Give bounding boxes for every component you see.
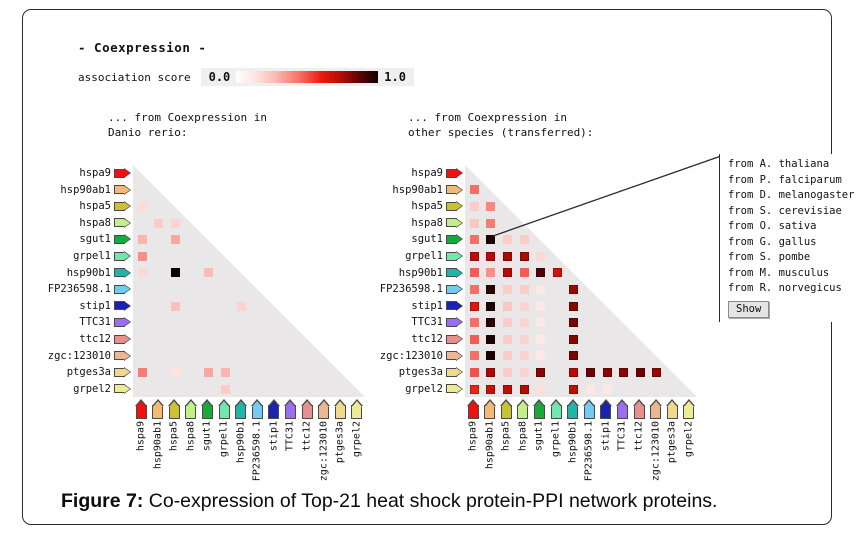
protein-node-icon xyxy=(235,399,246,419)
show-button[interactable]: Show xyxy=(728,301,769,318)
protein-node-icon xyxy=(114,252,131,261)
column-label-hspa8[interactable]: hspa8 xyxy=(183,399,199,419)
column-label-fp236598-1[interactable]: FP236598.1 xyxy=(581,399,597,419)
heatmap-cell[interactable] xyxy=(603,385,612,394)
column-label-text: ptges3a xyxy=(667,421,678,463)
heatmap-cell[interactable] xyxy=(553,268,562,277)
heatmap-cell[interactable] xyxy=(470,335,479,344)
protein-node-icon xyxy=(114,368,131,377)
row-label-text: FP236598.1 xyxy=(48,281,111,297)
heatmap-cell[interactable] xyxy=(536,285,545,294)
row-label-ttc31[interactable]: TTC31 xyxy=(381,314,463,330)
heatmap-cell[interactable] xyxy=(470,302,479,311)
heatmap-cell[interactable] xyxy=(520,235,529,244)
column-label-ttc12[interactable]: ttc12 xyxy=(631,399,647,419)
legend-bar-wrapper: 0.0 1.0 xyxy=(201,68,414,86)
panel-caption-danio-rerio: ... from Coexpression inDanio rerio: xyxy=(108,110,267,140)
row-label-text: grpel2 xyxy=(405,381,443,397)
heatmap-cell[interactable] xyxy=(652,368,661,377)
heatmap-cell[interactable] xyxy=(486,351,495,360)
heatmap-cell[interactable] xyxy=(536,368,545,377)
row-label-sgut1[interactable]: sgut1 xyxy=(49,231,131,247)
heatmap-cell[interactable] xyxy=(171,235,180,244)
heatmap-danio-rerio[interactable]: hspa9hsp90ab1hspa5hspa8sgut1grpel1hsp90b… xyxy=(49,165,373,483)
row-label-zgc-123010[interactable]: zgc:123010 xyxy=(49,348,131,364)
heatmap-cell[interactable] xyxy=(486,219,495,228)
protein-node-icon xyxy=(285,399,296,419)
heatmap-cell[interactable] xyxy=(171,368,180,377)
protein-node-icon xyxy=(667,399,678,419)
protein-node-icon xyxy=(517,399,528,419)
column-label-text: hspa8 xyxy=(185,421,196,451)
protein-node-icon xyxy=(351,399,362,419)
protein-node-icon xyxy=(501,399,512,419)
heatmap-cell[interactable] xyxy=(520,385,529,394)
column-label-text: stip1 xyxy=(268,421,279,451)
figure-caption-prefix: Figure 7: xyxy=(61,490,143,512)
protein-node-icon xyxy=(446,351,463,360)
row-label-hsp90ab1[interactable]: hsp90ab1 xyxy=(381,182,463,198)
column-label-text: hspa5 xyxy=(169,421,180,451)
heatmap-cell[interactable] xyxy=(470,252,479,261)
row-label-zgc-123010[interactable]: zgc:123010 xyxy=(381,348,463,364)
heatmap-cell[interactable] xyxy=(138,252,147,261)
column-label-ttc31[interactable]: TTC31 xyxy=(282,399,298,419)
row-label-text: TTC31 xyxy=(79,314,111,330)
heatmap-cell[interactable] xyxy=(520,302,529,311)
protein-node-icon xyxy=(446,368,463,377)
heatmap-cell[interactable] xyxy=(221,368,230,377)
protein-node-icon xyxy=(136,399,147,419)
heatmap-cell[interactable] xyxy=(569,385,578,394)
figure-caption-text: Co-expression of Top-21 heat shock prote… xyxy=(143,490,717,512)
row-label-text: zgc:123010 xyxy=(380,348,443,364)
column-label-row: hspa9hsp90ab1hspa5hspa8sgut1grpel1hsp90b… xyxy=(465,399,697,483)
protein-node-icon xyxy=(114,202,131,211)
heatmap-cell[interactable] xyxy=(569,318,578,327)
protein-node-icon xyxy=(114,335,131,344)
heatmap-cell[interactable] xyxy=(138,235,147,244)
panel-caption-line1: ... from Coexpression in xyxy=(108,110,267,125)
row-label-ttc12[interactable]: ttc12 xyxy=(381,331,463,347)
row-label-text: hsp90b1 xyxy=(399,265,443,281)
heatmap-cell[interactable] xyxy=(569,335,578,344)
column-label-text: hspa5 xyxy=(501,421,512,451)
heatmap-cell[interactable] xyxy=(503,302,512,311)
row-label-grpel1[interactable]: grpel1 xyxy=(49,248,131,264)
heatmap-cell[interactable] xyxy=(520,335,529,344)
heatmap-cell[interactable] xyxy=(470,202,479,211)
column-label-text: grpel1 xyxy=(551,421,562,457)
heatmap-cell[interactable] xyxy=(470,235,479,244)
heatmap-cell[interactable] xyxy=(536,335,545,344)
column-label-text: sgut1 xyxy=(202,421,213,451)
heatmap-cell[interactable] xyxy=(586,385,595,394)
row-label-text: TTC31 xyxy=(411,314,443,330)
heatmap-cell[interactable] xyxy=(520,351,529,360)
column-label-fp236598-1[interactable]: FP236598.1 xyxy=(249,399,265,419)
protein-node-icon xyxy=(114,185,131,194)
heatmap-cell[interactable] xyxy=(503,318,512,327)
column-label-sgut1[interactable]: sgut1 xyxy=(199,399,215,419)
species-item[interactable]: from S. cerevisiae xyxy=(728,204,854,220)
column-label-text: ttc12 xyxy=(634,421,645,451)
column-label-hspa9[interactable]: hspa9 xyxy=(465,399,481,419)
column-label-hsp90ab1[interactable]: hsp90ab1 xyxy=(482,399,498,419)
row-label-ttc12[interactable]: ttc12 xyxy=(49,331,131,347)
row-label-hsp90ab1[interactable]: hsp90ab1 xyxy=(49,182,131,198)
row-label-text: sgut1 xyxy=(411,231,443,247)
heatmap-cell[interactable] xyxy=(503,335,512,344)
protein-node-icon xyxy=(534,399,545,419)
row-label-sgut1[interactable]: sgut1 xyxy=(381,231,463,247)
column-label-text: ptges3a xyxy=(335,421,346,463)
heatmap-cell[interactable] xyxy=(237,302,246,311)
heatmap-cell[interactable] xyxy=(154,219,163,228)
protein-node-icon xyxy=(617,399,628,419)
column-label-zgc-123010[interactable]: zgc:123010 xyxy=(648,399,664,419)
column-label-ttc31[interactable]: TTC31 xyxy=(614,399,630,419)
row-label-grpel2[interactable]: grpel2 xyxy=(49,381,131,397)
row-label-text: hsp90b1 xyxy=(67,265,111,281)
row-label-text: grpel1 xyxy=(73,248,111,264)
heatmap-cell[interactable] xyxy=(470,368,479,377)
heatmap-cell[interactable] xyxy=(221,385,230,394)
heatmap-cell[interactable] xyxy=(503,285,512,294)
row-label-text: ptges3a xyxy=(399,364,443,380)
protein-node-icon xyxy=(114,301,131,310)
heatmap-cell[interactable] xyxy=(636,368,645,377)
row-label-text: grpel2 xyxy=(73,381,111,397)
coexpression-title: - Coexpression - xyxy=(78,40,206,55)
column-label-grpel2[interactable]: grpel2 xyxy=(681,399,697,419)
species-item[interactable]: from P. falciparum xyxy=(728,173,854,189)
heatmap-cell[interactable] xyxy=(520,285,529,294)
protein-node-icon xyxy=(169,399,180,419)
column-label-text: hspa8 xyxy=(517,421,528,451)
protein-node-icon xyxy=(600,399,611,419)
column-label-stip1[interactable]: stip1 xyxy=(266,399,282,419)
heatmap-cell[interactable] xyxy=(486,285,495,294)
row-label-hsp90b1[interactable]: hsp90b1 xyxy=(49,265,131,281)
row-label-text: stip1 xyxy=(79,298,111,314)
protein-node-icon xyxy=(468,399,479,419)
transferred-species-popup[interactable]: from A. thalianafrom P. falciparumfrom D… xyxy=(719,154,854,322)
row-label-text: FP236598.1 xyxy=(380,281,443,297)
protein-node-icon xyxy=(446,252,463,261)
column-label-grpel2[interactable]: grpel2 xyxy=(349,399,365,419)
protein-node-icon xyxy=(152,399,163,419)
row-label-hspa8[interactable]: hspa8 xyxy=(381,215,463,231)
heatmap-cell[interactable] xyxy=(536,351,545,360)
heatmap-cell[interactable] xyxy=(569,302,578,311)
protein-node-icon xyxy=(114,285,131,294)
column-label-text: hspa9 xyxy=(136,421,147,451)
species-item[interactable]: from M. musculus xyxy=(728,266,854,282)
column-label-hsp90b1[interactable]: hsp90b1 xyxy=(565,399,581,419)
row-label-text: hspa5 xyxy=(411,198,443,214)
row-label-ptges3a[interactable]: ptges3a xyxy=(381,364,463,380)
column-label-text: hsp90ab1 xyxy=(484,421,495,469)
row-label-hspa5[interactable]: hspa5 xyxy=(49,198,131,214)
column-label-hspa9[interactable]: hspa9 xyxy=(133,399,149,419)
row-label-column: hspa9hsp90ab1hspa5hspa8sgut1grpel1hsp90b… xyxy=(49,165,131,397)
column-label-zgc-123010[interactable]: zgc:123010 xyxy=(316,399,332,419)
heatmap-other-species[interactable]: hspa9hsp90ab1hspa5hspa8sgut1grpel1hsp90b… xyxy=(381,165,705,483)
heatmap-cell[interactable] xyxy=(486,368,495,377)
heatmap-cell[interactable] xyxy=(486,268,495,277)
species-item[interactable]: from D. melanogaster xyxy=(728,188,854,204)
heatmap-cell[interactable] xyxy=(470,385,479,394)
protein-node-icon xyxy=(252,399,263,419)
row-label-grpel1[interactable]: grpel1 xyxy=(381,248,463,264)
column-label-text: stip1 xyxy=(600,421,611,451)
protein-node-icon xyxy=(446,218,463,227)
heatmap-cell[interactable] xyxy=(486,335,495,344)
protein-node-icon xyxy=(302,399,313,419)
heatmap-cell[interactable] xyxy=(486,318,495,327)
column-label-text: zgc:123010 xyxy=(650,421,661,481)
protein-node-icon xyxy=(318,399,329,419)
heatmap-cell[interactable] xyxy=(536,268,545,277)
column-label-ptges3a[interactable]: ptges3a xyxy=(664,399,680,419)
heatmap-cell[interactable] xyxy=(503,235,512,244)
column-label-text: FP236598.1 xyxy=(252,421,263,481)
heatmap-grid[interactable] xyxy=(133,165,365,397)
heatmap-cell[interactable] xyxy=(503,351,512,360)
figure-caption: Figure 7: Co-expression of Top-21 heat s… xyxy=(61,490,841,513)
legend-max-value: 1.0 xyxy=(384,70,406,84)
row-label-stip1[interactable]: stip1 xyxy=(381,298,463,314)
protein-node-icon xyxy=(185,399,196,419)
protein-node-icon xyxy=(446,185,463,194)
column-label-text: hspa9 xyxy=(468,421,479,451)
heatmap-cell[interactable] xyxy=(603,368,612,377)
heatmap-cell[interactable] xyxy=(536,302,545,311)
row-label-text: ptges3a xyxy=(67,364,111,380)
column-label-text: zgc:123010 xyxy=(318,421,329,481)
column-label-text: FP236598.1 xyxy=(584,421,595,481)
column-label-text: hsp90ab1 xyxy=(152,421,163,469)
species-item[interactable]: from A. thaliana xyxy=(728,157,854,173)
row-label-grpel2[interactable]: grpel2 xyxy=(381,381,463,397)
protein-node-icon xyxy=(446,169,463,178)
legend-gradient-bar xyxy=(236,71,378,83)
legend-label: association score xyxy=(78,71,191,84)
heatmap-cell[interactable] xyxy=(470,351,479,360)
row-label-text: sgut1 xyxy=(79,231,111,247)
heatmap-cell[interactable] xyxy=(586,368,595,377)
heatmap-cell[interactable] xyxy=(536,318,545,327)
protein-node-icon xyxy=(683,399,694,419)
protein-node-icon xyxy=(446,285,463,294)
row-label-text: zgc:123010 xyxy=(48,348,111,364)
column-label-text: hsp90b1 xyxy=(567,421,578,463)
species-item[interactable]: from R. norvegicus xyxy=(728,281,854,297)
protein-node-icon xyxy=(567,399,578,419)
row-label-ptges3a[interactable]: ptges3a xyxy=(49,364,131,380)
protein-node-icon xyxy=(114,169,131,178)
heatmap-grid[interactable] xyxy=(465,165,697,397)
column-label-grpel1[interactable]: grpel1 xyxy=(216,399,232,419)
column-label-ptges3a[interactable]: ptges3a xyxy=(332,399,348,419)
row-label-hspa8[interactable]: hspa8 xyxy=(49,215,131,231)
protein-node-icon xyxy=(584,399,595,419)
protein-node-icon xyxy=(446,268,463,277)
row-label-text: hspa8 xyxy=(79,215,111,231)
panel-caption-line2: other species (transferred): xyxy=(408,125,593,140)
heatmap-cell[interactable] xyxy=(171,302,180,311)
protein-node-icon xyxy=(484,399,495,419)
heatmap-cell[interactable] xyxy=(536,252,545,261)
protein-node-icon xyxy=(551,399,562,419)
heatmap-cell[interactable] xyxy=(171,219,180,228)
row-label-text: hspa9 xyxy=(411,165,443,181)
row-label-hspa5[interactable]: hspa5 xyxy=(381,198,463,214)
heatmap-cell[interactable] xyxy=(520,252,529,261)
heatmap-cell[interactable] xyxy=(569,285,578,294)
column-label-hspa5[interactable]: hspa5 xyxy=(166,399,182,419)
protein-node-icon xyxy=(114,268,131,277)
species-item[interactable]: from S. pombe xyxy=(728,250,854,266)
column-label-text: grpel2 xyxy=(351,421,362,457)
row-label-text: ttc12 xyxy=(411,331,443,347)
protein-node-icon xyxy=(268,399,279,419)
row-label-hsp90b1[interactable]: hsp90b1 xyxy=(381,265,463,281)
protein-node-icon xyxy=(446,318,463,327)
row-label-hspa9[interactable]: hspa9 xyxy=(381,165,463,181)
row-label-text: hspa8 xyxy=(411,215,443,231)
triangle-background xyxy=(133,165,365,397)
protein-node-icon xyxy=(446,301,463,310)
legend-min-value: 0.0 xyxy=(209,70,231,84)
heatmap-cell[interactable] xyxy=(204,368,213,377)
heatmap-cell[interactable] xyxy=(486,252,495,261)
heatmap-cell[interactable] xyxy=(486,235,495,244)
protein-node-icon xyxy=(114,235,131,244)
heatmap-cell[interactable] xyxy=(171,268,180,277)
row-label-stip1[interactable]: stip1 xyxy=(49,298,131,314)
protein-node-icon xyxy=(114,218,131,227)
row-label-text: ttc12 xyxy=(79,331,111,347)
row-label-fp236598-1[interactable]: FP236598.1 xyxy=(49,281,131,297)
heatmap-cell[interactable] xyxy=(503,368,512,377)
protein-node-icon xyxy=(114,318,131,327)
protein-node-icon xyxy=(219,399,230,419)
heatmap-cell[interactable] xyxy=(486,302,495,311)
heatmap-cell[interactable] xyxy=(486,385,495,394)
heatmap-cell[interactable] xyxy=(536,385,545,394)
heatmap-cell[interactable] xyxy=(569,351,578,360)
species-item[interactable]: from G. gallus xyxy=(728,235,854,251)
row-label-text: hsp90ab1 xyxy=(392,182,443,198)
heatmap-cell[interactable] xyxy=(470,219,479,228)
protein-node-icon xyxy=(335,399,346,419)
heatmap-cell[interactable] xyxy=(503,252,512,261)
column-label-sgut1[interactable]: sgut1 xyxy=(531,399,547,419)
heatmap-cell[interactable] xyxy=(470,318,479,327)
protein-node-icon xyxy=(446,202,463,211)
heatmap-cell[interactable] xyxy=(470,185,479,194)
association-score-legend: association score 0.0 1.0 xyxy=(78,68,414,86)
row-label-fp236598-1[interactable]: FP236598.1 xyxy=(381,281,463,297)
protein-node-icon xyxy=(114,384,131,393)
column-label-text: grpel2 xyxy=(683,421,694,457)
row-label-column: hspa9hsp90ab1hspa5hspa8sgut1grpel1hsp90b… xyxy=(381,165,463,397)
panel-caption-line1: ... from Coexpression in xyxy=(408,110,593,125)
column-label-hspa5[interactable]: hspa5 xyxy=(498,399,514,419)
heatmap-cell[interactable] xyxy=(470,285,479,294)
heatmap-cell[interactable] xyxy=(520,368,529,377)
heatmap-cell[interactable] xyxy=(138,202,147,211)
row-label-hspa9[interactable]: hspa9 xyxy=(49,165,131,181)
protein-node-icon xyxy=(634,399,645,419)
heatmap-cell[interactable] xyxy=(486,202,495,211)
column-label-text: hsp90b1 xyxy=(235,421,246,463)
species-item[interactable]: from O. sativa xyxy=(728,219,854,235)
heatmap-cell[interactable] xyxy=(619,368,628,377)
column-label-text: grpel1 xyxy=(219,421,230,457)
row-label-text: hspa9 xyxy=(79,165,111,181)
protein-node-icon xyxy=(446,384,463,393)
heatmap-cell[interactable] xyxy=(503,385,512,394)
column-label-text: sgut1 xyxy=(534,421,545,451)
protein-node-icon xyxy=(650,399,661,419)
heatmap-cell[interactable] xyxy=(204,268,213,277)
heatmap-cell[interactable] xyxy=(503,268,512,277)
column-label-hspa8[interactable]: hspa8 xyxy=(515,399,531,419)
protein-node-icon xyxy=(446,235,463,244)
column-label-grpel1[interactable]: grpel1 xyxy=(548,399,564,419)
protein-node-icon xyxy=(446,335,463,344)
column-label-row: hspa9hsp90ab1hspa5hspa8sgut1grpel1hsp90b… xyxy=(133,399,365,483)
column-label-stip1[interactable]: stip1 xyxy=(598,399,614,419)
heatmap-cell[interactable] xyxy=(569,368,578,377)
heatmap-cell[interactable] xyxy=(520,268,529,277)
column-label-text: TTC31 xyxy=(285,421,296,451)
column-label-text: TTC31 xyxy=(617,421,628,451)
column-label-hsp90ab1[interactable]: hsp90ab1 xyxy=(150,399,166,419)
panel-caption-other-species: ... from Coexpression inother species (t… xyxy=(408,110,593,140)
heatmap-cell[interactable] xyxy=(138,268,147,277)
heatmap-cell[interactable] xyxy=(138,368,147,377)
row-label-ttc31[interactable]: TTC31 xyxy=(49,314,131,330)
heatmap-cell[interactable] xyxy=(470,268,479,277)
row-label-text: stip1 xyxy=(411,298,443,314)
row-label-text: hspa5 xyxy=(79,198,111,214)
row-label-text: grpel1 xyxy=(405,248,443,264)
protein-node-icon xyxy=(202,399,213,419)
column-label-ttc12[interactable]: ttc12 xyxy=(299,399,315,419)
triangle-background xyxy=(465,165,697,397)
column-label-text: ttc12 xyxy=(302,421,313,451)
heatmap-cell[interactable] xyxy=(520,318,529,327)
column-label-hsp90b1[interactable]: hsp90b1 xyxy=(233,399,249,419)
figure-frame: - Coexpression - association score 0.0 1… xyxy=(22,9,832,525)
protein-node-icon xyxy=(114,351,131,360)
panel-caption-line2: Danio rerio: xyxy=(108,125,267,140)
row-label-text: hsp90ab1 xyxy=(60,182,111,198)
